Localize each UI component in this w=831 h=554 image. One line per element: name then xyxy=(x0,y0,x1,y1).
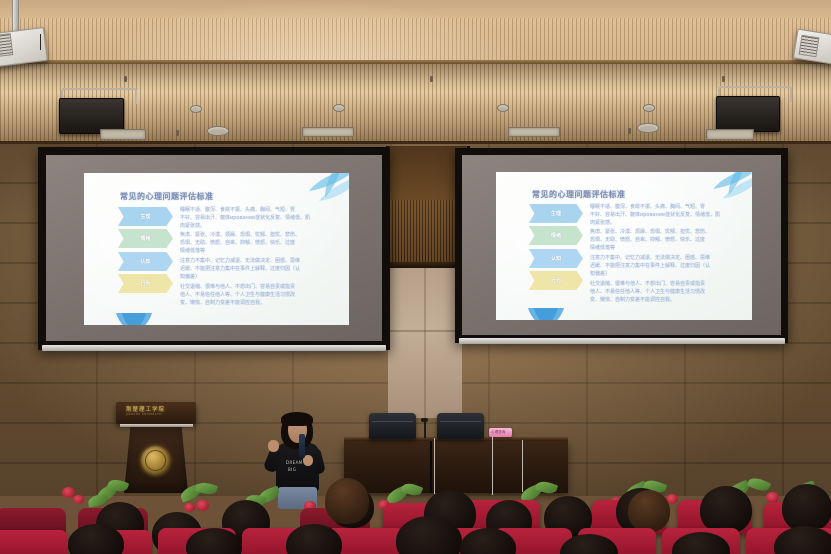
slide-left-row-1-line-1: 恐惧、无助、愤怒、自卑、抑郁、愤怒、快乐、过度 xyxy=(180,239,295,246)
row-1-label-text: 情绪 xyxy=(140,235,150,242)
slide-right-row-2-line-1: 迟缓、不能把注意力集中在事件上解释、过度归因（认 xyxy=(590,262,710,269)
podium-crest-ring xyxy=(145,450,166,471)
slide-right-row-2-label: 认知 xyxy=(529,249,583,268)
pink-box-label: 心理咨询 xyxy=(491,430,505,435)
slide-left: 常见的心理问题评估标准 生理 情绪 认知 行为 睡眠不适、腹泻、食欲不振、头痛、… xyxy=(84,173,349,325)
slide-left-row-1-label: 情绪 xyxy=(118,229,173,248)
ceiling-fixing-1 xyxy=(124,76,127,82)
slide-left-row-0-line-1: 不好、容易出汗、躯体ирование症状化反复、情绪低、肌 xyxy=(180,214,310,221)
slide-left-row-0-line-2: 肉紧张感。 xyxy=(180,222,205,229)
audience-head-5 xyxy=(325,478,369,524)
table-microphone-head xyxy=(421,418,428,422)
row-1-label-text: 情绪 xyxy=(551,232,561,239)
ceiling-air-vent-2 xyxy=(302,127,354,137)
audience-head-12 xyxy=(628,490,670,532)
slide-left-row-3-line-0: 社交退缩、很难与他人、不想出门、容易自责或指责 xyxy=(180,283,295,290)
ceiling-downlight-5 xyxy=(207,126,229,136)
ceiling-fixing-4 xyxy=(176,130,179,136)
slide-left-row-3-line-2: 变、懒惰、自制力变差不能调控自我。 xyxy=(180,299,265,306)
presenter-left-hand xyxy=(268,440,279,452)
slide-left-row-2-label: 认知 xyxy=(118,252,173,271)
row-2-label-text: 认知 xyxy=(140,258,150,265)
slide-right-decoration-bottom-left-icon xyxy=(526,306,566,320)
ceiling-downlight-2 xyxy=(333,104,345,112)
slide-left-title: 常见的心理问题评估标准 xyxy=(120,191,214,202)
seat-row-front-1[interactable] xyxy=(0,530,68,554)
slide-right-row-3-line-2: 变、懒惰、自制力变差不能调控自我。 xyxy=(590,296,675,303)
slide-right-row-3-line-0: 社交退缩、很难与他人、不想出门、容易自责或指责 xyxy=(590,280,705,287)
slide-left-decoration-bottom-left-icon xyxy=(114,311,154,325)
ceiling-speaker-right xyxy=(716,96,780,132)
ceiling-downlight-6 xyxy=(637,123,659,133)
slide-left-row-1-line-0: 焦虑、紧张、冷漠、烦躁、恐惧、忧郁、担忧、悲伤、 xyxy=(180,231,300,238)
chair-right[interactable] xyxy=(437,413,484,439)
slide-left-row-0-label: 生理 xyxy=(118,207,173,226)
slide-right-row-0-line-1: 不好、容易出汗、躯体ирование症状化反复、情绪低、肌 xyxy=(590,211,720,218)
center-pier-slats xyxy=(389,200,461,262)
table-center-divider xyxy=(430,441,432,493)
ceiling-downlight-1 xyxy=(190,105,202,113)
table-microphone xyxy=(424,421,426,438)
ceiling-air-vent-1 xyxy=(100,129,146,140)
slide-left-row-2-line-0: 注意力不集中、记忆力减退、无法做决定、困惑、思维 xyxy=(180,257,300,264)
slide-right-row-0-line-2: 肉紧张感。 xyxy=(590,219,615,226)
slide-right: 常见的心理问题评估标准 生理 情绪 认知 行为 睡眠不适、腹泻、食欲不振、头痛、… xyxy=(496,172,752,320)
ceiling-downlight-3 xyxy=(497,104,509,112)
chair-left[interactable] xyxy=(369,413,416,439)
slide-right-row-3-label: 行为 xyxy=(529,271,583,290)
slide-right-row-0-label: 生理 xyxy=(529,204,583,223)
center-pier-seam-v xyxy=(424,268,426,418)
screen-right-bottom-bar xyxy=(459,338,785,344)
slide-left-row-3-line-1: 他人、不易信任他人等、个人卫生与健康生活习惯改 xyxy=(180,291,295,298)
ceiling-air-vent-4 xyxy=(706,129,754,140)
projector-mount-pole-left xyxy=(12,0,19,34)
slide-right-row-1-line-0: 焦虑、紧张、冷漠、烦躁、恐惧、忧郁、担忧、悲伤、 xyxy=(590,228,710,235)
slide-left-row-2-line-2: 知偏差） xyxy=(180,273,200,280)
row-0-label-text: 生理 xyxy=(140,213,150,220)
ceiling-air-vent-3 xyxy=(508,127,560,137)
presenter-microphone xyxy=(299,434,305,458)
slide-left-row-1-line-2: 情绪低落等 xyxy=(180,247,205,254)
podium-university-subtitle: JINGCHU UNIVERSITY xyxy=(126,413,162,416)
podium-trim-band xyxy=(120,424,193,427)
presenter-shirt-text-line1: DREAM xyxy=(286,460,303,465)
table-cable-3 xyxy=(522,440,529,492)
slide-right-row-1-label: 情绪 xyxy=(529,226,583,245)
podium-university-name: 荆楚理工学院 xyxy=(126,405,165,413)
ceiling-light-glow xyxy=(120,0,540,62)
row-2-label-text: 认知 xyxy=(551,255,561,262)
slide-right-row-3-line-1: 他人、不易信任他人等、个人卫生与健康生活习惯改 xyxy=(590,288,705,295)
lecture-hall-photo: 常见的心理问题评估标准 生理 情绪 认知 行为 睡眠不适、腹泻、食欲不振、头痛、… xyxy=(0,0,831,554)
row-3-label-text: 行为 xyxy=(140,280,150,287)
slide-right-row-2-line-0: 注意力不集中、记忆力减退、无法做决定、困惑、思维 xyxy=(590,254,710,261)
ceiling-fixing-3 xyxy=(722,76,725,82)
screen-left-bottom-bar xyxy=(42,345,386,351)
presenter-shirt-text-line2: BIG xyxy=(288,467,296,472)
slide-left-row-3-label: 行为 xyxy=(118,274,173,293)
projector-vent-right xyxy=(799,35,820,58)
ceiling-downlight-4 xyxy=(643,104,655,112)
slide-right-row-0-line-0: 睡眠不适、腹泻、食欲不振、头痛、胸闷、气短、胃 xyxy=(590,203,705,210)
chair-left-seam xyxy=(372,421,413,422)
slide-left-row-2-line-1: 迟缓、不能把注意力集中在事件上解释、过度归因（认 xyxy=(180,265,300,272)
ceiling-fixing-2 xyxy=(430,76,433,82)
chair-right-seam xyxy=(440,421,481,422)
slide-right-row-2-line-2: 知偏差） xyxy=(590,270,610,277)
slide-right-title: 常见的心理问题评估标准 xyxy=(532,189,626,200)
projector-cable-left xyxy=(40,34,55,50)
slide-right-row-1-line-1: 恐惧、无助、愤怒、自卑、抑郁、愤怒、快乐、过度 xyxy=(590,236,705,243)
ceiling-fixing-5 xyxy=(628,128,631,134)
row-3-label-text: 行为 xyxy=(551,277,561,284)
slide-right-row-1-line-2: 情绪低落等 xyxy=(590,244,615,251)
row-0-label-text: 生理 xyxy=(551,210,561,217)
audience-head-10 xyxy=(700,486,752,534)
slide-left-row-0-line-0: 睡眠不适、腹泻、食欲不振、头痛、胸闷、气短、胃 xyxy=(180,206,295,213)
audience-head-11 xyxy=(782,484,831,532)
presenter-hair-front xyxy=(281,412,313,426)
